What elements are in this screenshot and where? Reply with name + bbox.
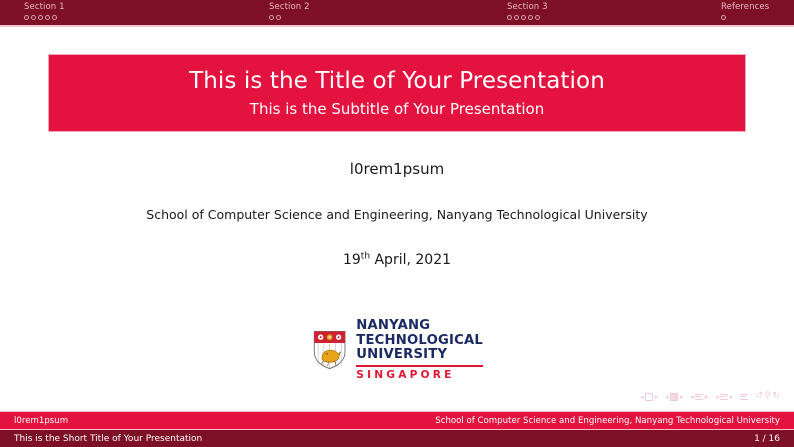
- logo-line-singapore: SINGAPORE: [356, 369, 483, 381]
- ntu-logo-text: NANYANG TECHNOLOGICAL UNIVERSITY SINGAPO…: [356, 319, 483, 381]
- date-rest: April, 2021: [370, 252, 451, 268]
- nav-section-1[interactable]: Section 1: [0, 0, 245, 25]
- subsection-icon[interactable]: [695, 393, 703, 401]
- date-ordinal-suffix: th: [361, 251, 370, 261]
- nav-section-2[interactable]: Section 2: [245, 0, 483, 25]
- section-icon[interactable]: [720, 393, 728, 401]
- slide-dot[interactable]: [31, 15, 36, 20]
- slide-icon[interactable]: [645, 393, 653, 401]
- chevron-left-icon[interactable]: ◂: [665, 393, 669, 401]
- section-navigation-icon[interactable]: ◂ ▸: [715, 393, 733, 401]
- logo-divider: [356, 365, 483, 367]
- search-icon[interactable]: ⚲: [764, 392, 771, 401]
- slide-dot[interactable]: [507, 15, 512, 20]
- frame-navigation-icon[interactable]: ◂ ▸: [665, 393, 683, 401]
- frame-icon[interactable]: [670, 393, 678, 401]
- footer-institute: School of Computer Science and Engineeri…: [435, 416, 780, 426]
- section-navigation-bar: Section 1 Section 2 Section 3: [0, 0, 794, 25]
- beamer-navigation-symbols[interactable]: ◂ ▸ ◂ ▸ ◂ ▸ ◂ ▸ ↺ ⚲ ↻: [640, 392, 780, 401]
- footer-upper-bar: l0rem1psum School of Computer Science an…: [0, 411, 794, 429]
- presentation-title: This is the Title of Your Presentation: [189, 66, 605, 96]
- slide-dot[interactable]: [38, 15, 43, 20]
- presentation-date: 19th April, 2021: [0, 252, 794, 268]
- ntu-crest-icon: [313, 319, 346, 381]
- slide-dot[interactable]: [535, 15, 540, 20]
- chevron-left-icon[interactable]: ◂: [640, 393, 644, 401]
- slide-dot[interactable]: [514, 15, 519, 20]
- back-icon[interactable]: ↺: [755, 392, 763, 401]
- nav-section-slide-dots[interactable]: [507, 15, 721, 20]
- slide-dot[interactable]: [24, 15, 29, 20]
- presentation-slide: Section 1 Section 2 Section 3: [0, 0, 794, 447]
- institute-name: School of Computer Science and Engineeri…: [0, 207, 794, 222]
- nav-section-label: Section 2: [269, 2, 483, 13]
- nav-section-3[interactable]: Section 3: [483, 0, 721, 25]
- chevron-right-icon[interactable]: ▸: [655, 393, 659, 401]
- nav-section-label: References: [721, 2, 794, 13]
- presentation-subtitle: This is the Subtitle of Your Presentatio…: [250, 98, 544, 120]
- footer-author: l0rem1psum: [14, 416, 68, 426]
- slide-dot[interactable]: [721, 15, 726, 20]
- chevron-right-icon[interactable]: ▸: [705, 393, 709, 401]
- slide-dot[interactable]: [521, 15, 526, 20]
- author-name: l0rem1psum: [0, 160, 794, 178]
- logo-line-nanyang: NANYANG: [356, 319, 483, 334]
- presentation-navigation-icon[interactable]: [740, 393, 748, 401]
- navbar-underline: [0, 25, 794, 27]
- slide-dot[interactable]: [528, 15, 533, 20]
- chevron-left-icon[interactable]: ◂: [715, 393, 719, 401]
- ntu-logo: NANYANG TECHNOLOGICAL UNIVERSITY SINGAPO…: [313, 317, 483, 383]
- slide-dot[interactable]: [269, 15, 274, 20]
- back-forward-search-icons[interactable]: ↺ ⚲ ↻: [755, 392, 780, 401]
- document-icon[interactable]: [740, 393, 748, 401]
- slide-dot[interactable]: [45, 15, 50, 20]
- nav-section-slide-dots[interactable]: [721, 15, 794, 20]
- logo-line-university: UNIVERSITY: [356, 348, 483, 363]
- nav-section-references[interactable]: References: [721, 0, 794, 25]
- nav-section-label: Section 1: [24, 2, 245, 13]
- nav-section-slide-dots[interactable]: [24, 15, 245, 20]
- footer-short-title: This is the Short Title of Your Presenta…: [14, 434, 202, 444]
- chevron-left-icon[interactable]: ◂: [690, 393, 694, 401]
- nav-section-slide-dots[interactable]: [269, 15, 483, 20]
- subsection-navigation-icon[interactable]: ◂ ▸: [690, 393, 708, 401]
- title-block: This is the Title of Your Presentation T…: [48, 54, 746, 132]
- slide-dot[interactable]: [276, 15, 281, 20]
- date-day: 19: [343, 252, 361, 268]
- slide-navigation-icon[interactable]: ◂ ▸: [640, 393, 658, 401]
- nav-section-label: Section 3: [507, 2, 721, 13]
- footer-lower-bar: This is the Short Title of Your Presenta…: [0, 429, 794, 447]
- chevron-right-icon[interactable]: ▸: [680, 393, 684, 401]
- logo-line-technological: TECHNOLOGICAL: [356, 334, 483, 349]
- chevron-right-icon[interactable]: ▸: [730, 393, 734, 401]
- forward-icon[interactable]: ↻: [772, 392, 780, 401]
- slide-dot[interactable]: [52, 15, 57, 20]
- footer-page-number: 1 / 16: [754, 434, 780, 444]
